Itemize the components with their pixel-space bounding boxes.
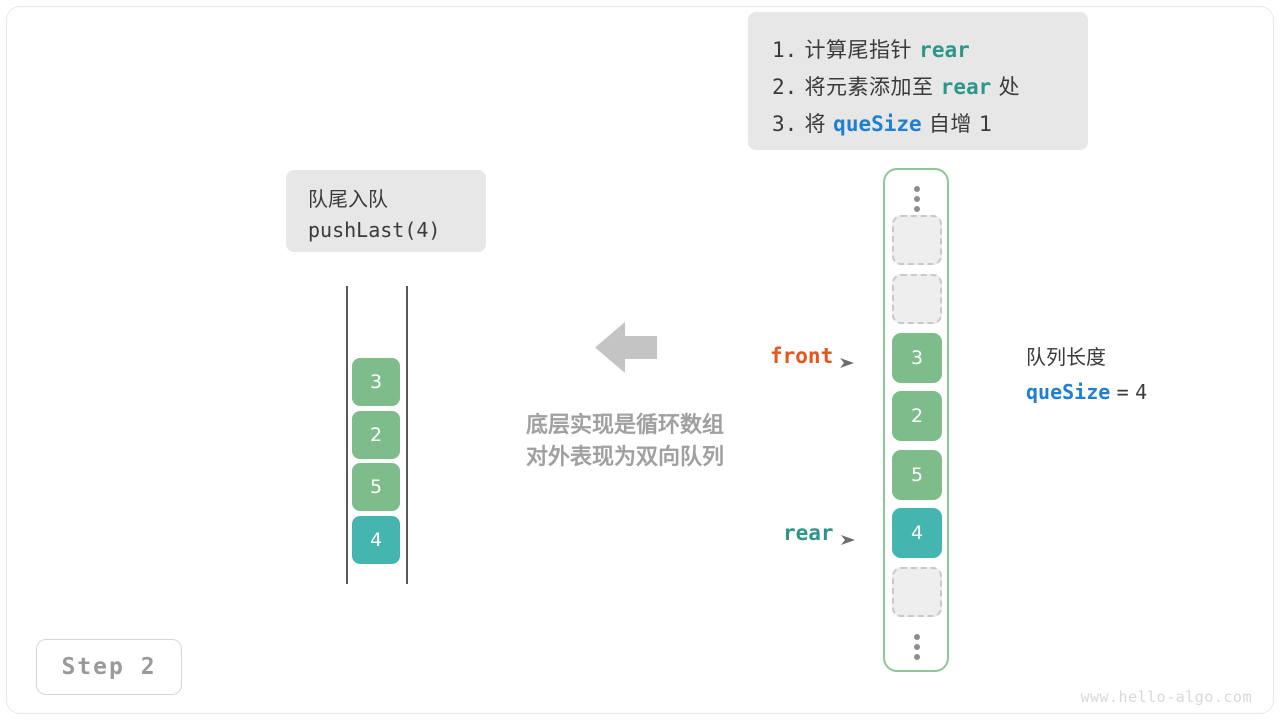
queue-size-expression: queSize = 4	[1026, 375, 1256, 410]
array-rail-left	[346, 286, 348, 584]
operation-title: 队尾入队	[308, 184, 486, 215]
queue-size-info: 队列长度 queSize = 4	[1026, 340, 1256, 410]
rear-pointer-label: rear	[783, 521, 857, 545]
step-badge-label: Step 2	[61, 654, 156, 680]
front-pointer-text: front	[770, 344, 833, 368]
operation-call: pushLast(4)	[308, 215, 486, 246]
operation-call-prefix: pushLast(	[308, 218, 416, 242]
deque-cell-0: 3	[352, 358, 400, 406]
instruction-number-2: 2.	[772, 75, 797, 99]
circular-array-view: 3 2 5 4	[883, 168, 949, 672]
diagram-canvas: 1. 计算尾指针 rear 2. 将元素添加至 rear 处 3. 将 queS…	[0, 0, 1280, 720]
instruction-line-2: 2. 将元素添加至 rear 处	[772, 69, 1066, 106]
operation-call-suffix: )	[428, 218, 440, 242]
array-rail-right	[406, 286, 408, 584]
rear-pointer-text: rear	[783, 521, 834, 545]
circular-slot-3: 2	[892, 391, 942, 441]
queue-size-value: 4	[1135, 380, 1147, 404]
step-badge: Step 2	[36, 639, 182, 695]
instruction-text-3b: 自增 1	[929, 112, 993, 136]
instruction-code-2: rear	[941, 75, 992, 99]
center-note-line-1: 底层实现是循环数组	[470, 410, 780, 442]
pointer-arrow-icon	[840, 350, 856, 362]
queue-size-title: 队列长度	[1026, 340, 1256, 375]
vertical-ellipsis-icon-top	[910, 186, 924, 212]
instruction-line-3: 3. 将 queSize 自增 1	[772, 106, 1066, 143]
operation-panel: 队尾入队 pushLast(4)	[286, 170, 486, 252]
circular-slot-1	[892, 274, 942, 324]
instruction-line-1: 1. 计算尾指针 rear	[772, 32, 1066, 69]
instruction-code-3: queSize	[833, 112, 922, 136]
deque-cell-3: 4	[352, 516, 400, 564]
vertical-ellipsis-icon-bottom	[910, 634, 924, 660]
center-note-line-2: 对外表现为双向队列	[470, 442, 780, 474]
instruction-code-1: rear	[919, 38, 970, 62]
deque-cell-2: 5	[352, 463, 400, 511]
instruction-text-1a: 计算尾指针	[804, 38, 912, 62]
instruction-text-3a: 将	[804, 112, 826, 136]
queue-size-equals: =	[1117, 380, 1129, 404]
pointer-arrow-icon	[841, 527, 857, 539]
instruction-number-1: 1.	[772, 38, 797, 62]
deque-cell-1: 2	[352, 411, 400, 459]
instruction-text-2a: 将元素添加至	[804, 75, 933, 99]
front-pointer-label: front	[770, 344, 856, 368]
instruction-text-2b: 处	[998, 75, 1020, 99]
circular-slot-5: 4	[892, 508, 942, 558]
instruction-panel: 1. 计算尾指针 rear 2. 将元素添加至 rear 处 3. 将 queS…	[748, 12, 1088, 150]
operation-call-value: 4	[416, 218, 428, 242]
instruction-number-3: 3.	[772, 112, 797, 136]
circular-slot-6	[892, 567, 942, 617]
deque-logical-view: 3 2 5 4	[346, 286, 408, 584]
watermark: www.hello-algo.com	[1080, 688, 1252, 706]
center-note: 底层实现是循环数组 对外表现为双向队列	[470, 410, 780, 474]
circular-slot-4: 5	[892, 450, 942, 500]
left-arrow-icon	[595, 320, 657, 375]
circular-slot-0	[892, 215, 942, 265]
circular-slot-2: 3	[892, 333, 942, 383]
queue-size-var: queSize	[1026, 380, 1110, 404]
